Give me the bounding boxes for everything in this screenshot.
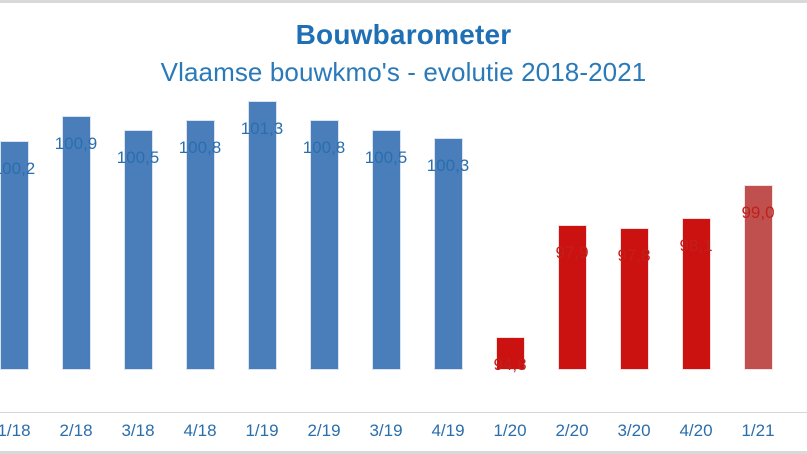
bar-rect[interactable] bbox=[62, 116, 91, 370]
bar-value-label: 98,1 bbox=[660, 236, 732, 256]
category-axis-line bbox=[0, 412, 807, 413]
bar-value-label: 100,8 bbox=[164, 138, 236, 158]
bar-value-label: 101,3 bbox=[226, 119, 298, 139]
bar-value-label: 94,8 bbox=[474, 355, 546, 375]
bar-value-label: 99,0 bbox=[722, 203, 794, 223]
bar-rect[interactable] bbox=[248, 101, 277, 370]
plot-area: 100,2100,9100,5100,8101,3100,8100,5100,3… bbox=[0, 0, 807, 412]
bar-value-label: 100,3 bbox=[412, 156, 484, 176]
bar-value-label: 100,2 bbox=[0, 159, 50, 179]
bouwbarometer-chart: Bouwbarometer Vlaamse bouwkmo's - evolut… bbox=[0, 0, 807, 454]
category-label-1-21: 1/21 bbox=[722, 420, 794, 442]
